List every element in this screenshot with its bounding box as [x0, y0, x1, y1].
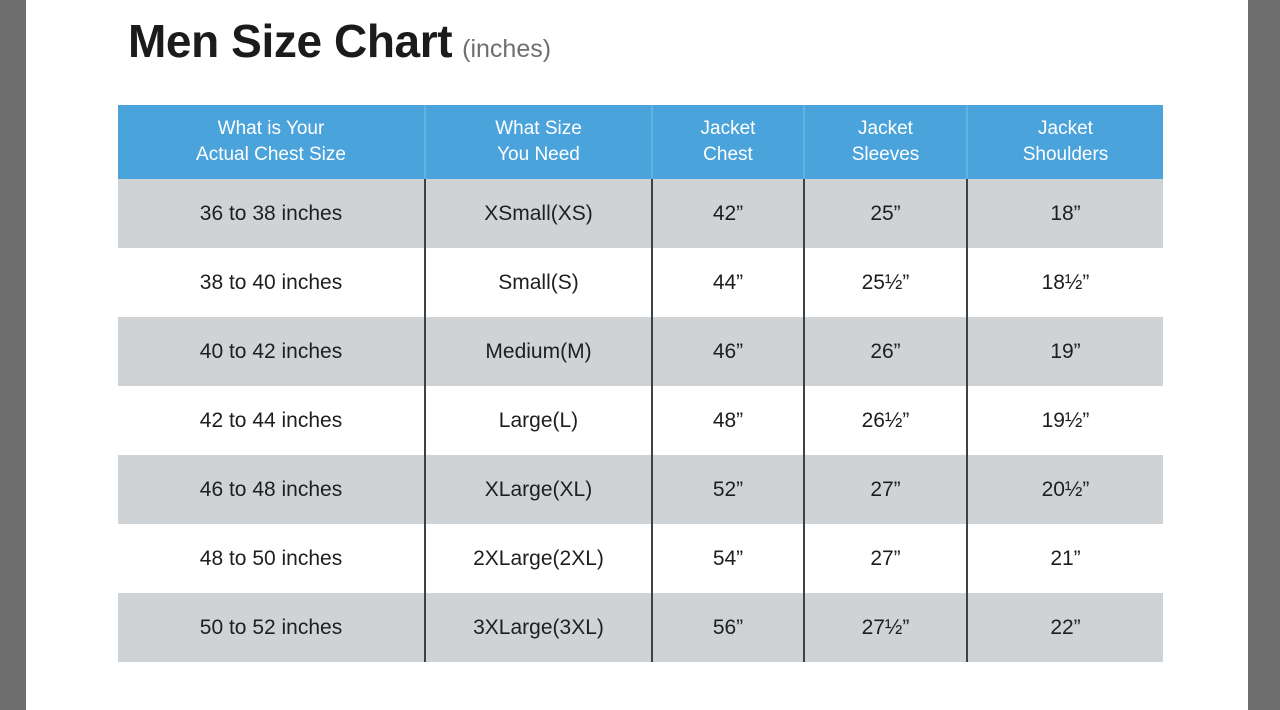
cell-size-name: 2XLarge(2XL)	[425, 524, 652, 593]
letterbox-right	[1248, 0, 1280, 710]
cell-size-name: XLarge(XL)	[425, 455, 652, 524]
cell-jacket-chest: 46”	[652, 317, 804, 386]
cell-size-name: XSmall(XS)	[425, 179, 652, 248]
cell-jacket-shoulders: 21”	[967, 524, 1163, 593]
cell-jacket-sleeves: 27½”	[804, 593, 967, 662]
cell-jacket-sleeves: 26”	[804, 317, 967, 386]
column-header-jacket-shoulders: Jacket Shoulders	[967, 105, 1163, 179]
cell-jacket-sleeves: 26½”	[804, 386, 967, 455]
cell-chest-range: 40 to 42 inches	[118, 317, 425, 386]
size-chart-table: What is Your Actual Chest Size What Size…	[118, 105, 1163, 662]
cell-jacket-sleeves: 27”	[804, 524, 967, 593]
column-header-line2: You Need	[430, 142, 647, 168]
column-header-line2: Actual Chest Size	[122, 142, 420, 168]
cell-chest-range: 38 to 40 inches	[118, 248, 425, 317]
column-header-line1: Jacket	[809, 116, 962, 142]
column-header-size-you-need: What Size You Need	[425, 105, 652, 179]
table-body: 36 to 38 inches XSmall(XS) 42” 25” 18” 3…	[118, 179, 1163, 662]
page-title-main: Men Size Chart	[128, 18, 452, 64]
cell-jacket-shoulders: 19½”	[967, 386, 1163, 455]
chart-page: Men Size Chart (inches) What is Your Act…	[26, 0, 1248, 710]
cell-jacket-chest: 42”	[652, 179, 804, 248]
table-row: 38 to 40 inches Small(S) 44” 25½” 18½”	[118, 248, 1163, 317]
table-header-row: What is Your Actual Chest Size What Size…	[118, 105, 1163, 179]
cell-size-name: Large(L)	[425, 386, 652, 455]
cell-jacket-shoulders: 20½”	[967, 455, 1163, 524]
column-header-line2: Shoulders	[972, 142, 1159, 168]
table-row: 50 to 52 inches 3XLarge(3XL) 56” 27½” 22…	[118, 593, 1163, 662]
column-header-line2: Chest	[657, 142, 799, 168]
page-title-units: (inches)	[462, 37, 551, 62]
page-title: Men Size Chart (inches)	[128, 18, 551, 64]
table-row: 48 to 50 inches 2XLarge(2XL) 54” 27” 21”	[118, 524, 1163, 593]
table-row: 42 to 44 inches Large(L) 48” 26½” 19½”	[118, 386, 1163, 455]
cell-size-name: Small(S)	[425, 248, 652, 317]
cell-jacket-shoulders: 19”	[967, 317, 1163, 386]
cell-jacket-sleeves: 27”	[804, 455, 967, 524]
cell-jacket-shoulders: 18½”	[967, 248, 1163, 317]
cell-jacket-chest: 52”	[652, 455, 804, 524]
column-header-line1: Jacket	[972, 116, 1159, 142]
letterbox-left	[0, 0, 26, 710]
cell-jacket-chest: 48”	[652, 386, 804, 455]
column-header-jacket-chest: Jacket Chest	[652, 105, 804, 179]
table-header: What is Your Actual Chest Size What Size…	[118, 105, 1163, 179]
cell-jacket-chest: 44”	[652, 248, 804, 317]
cell-size-name: 3XLarge(3XL)	[425, 593, 652, 662]
cell-chest-range: 50 to 52 inches	[118, 593, 425, 662]
cell-chest-range: 46 to 48 inches	[118, 455, 425, 524]
column-header-line1: What Size	[430, 116, 647, 142]
cell-chest-range: 36 to 38 inches	[118, 179, 425, 248]
column-header-jacket-sleeves: Jacket Sleeves	[804, 105, 967, 179]
cell-size-name: Medium(M)	[425, 317, 652, 386]
column-header-line1: What is Your	[122, 116, 420, 142]
column-header-line1: Jacket	[657, 116, 799, 142]
cell-jacket-sleeves: 25½”	[804, 248, 967, 317]
cell-jacket-shoulders: 22”	[967, 593, 1163, 662]
table-row: 40 to 42 inches Medium(M) 46” 26” 19”	[118, 317, 1163, 386]
cell-chest-range: 48 to 50 inches	[118, 524, 425, 593]
cell-jacket-sleeves: 25”	[804, 179, 967, 248]
cell-jacket-shoulders: 18”	[967, 179, 1163, 248]
column-header-actual-chest-size: What is Your Actual Chest Size	[118, 105, 425, 179]
table-row: 46 to 48 inches XLarge(XL) 52” 27” 20½”	[118, 455, 1163, 524]
cell-chest-range: 42 to 44 inches	[118, 386, 425, 455]
table-row: 36 to 38 inches XSmall(XS) 42” 25” 18”	[118, 179, 1163, 248]
column-header-line2: Sleeves	[809, 142, 962, 168]
cell-jacket-chest: 54”	[652, 524, 804, 593]
cell-jacket-chest: 56”	[652, 593, 804, 662]
